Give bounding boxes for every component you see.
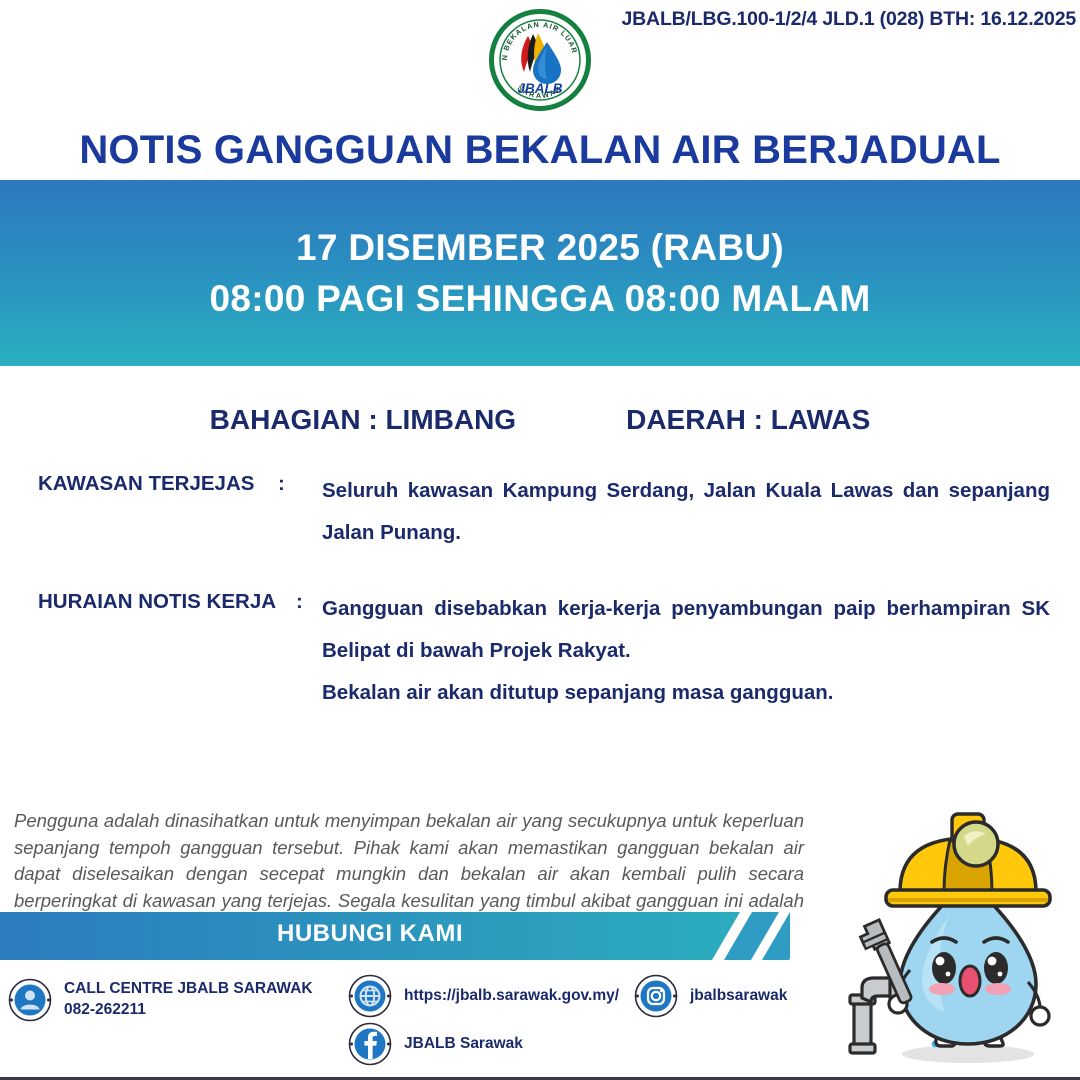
person-icon xyxy=(8,978,52,1022)
affected-area-label: KAWASAN TERJEJAS xyxy=(38,470,278,496)
affected-area-colon: : xyxy=(278,470,322,496)
work-description-row: HURAIAN NOTIS KERJA : Gangguan disebabka… xyxy=(38,588,1050,714)
work-description-line-2: Belipat di bawah Projek Rakyat. xyxy=(322,630,1050,672)
contact-call-centre[interactable]: CALL CENTRE JBALB SARAWAK 082-262211 xyxy=(8,978,313,1022)
water-droplet-mascot xyxy=(832,792,1080,1076)
date-time-banner: 17 DISEMBER 2025 (RABU) 08:00 PAGI SEHIN… xyxy=(0,180,1080,366)
work-description-colon: : xyxy=(296,588,322,614)
outage-date: 17 DISEMBER 2025 (RABU) xyxy=(296,222,784,273)
affected-area-text: Seluruh kawasan Kampung Serdang, Jalan K… xyxy=(322,470,1050,554)
work-description-label: HURAIAN NOTIS KERJA xyxy=(38,588,296,614)
instagram-icon xyxy=(634,974,678,1018)
bahagian-label: BAHAGIAN : LIMBANG xyxy=(210,404,516,436)
division-row: BAHAGIAN : LIMBANG DAERAH : LAWAS xyxy=(0,404,1080,436)
work-description-text: Gangguan disebabkan kerja-kerja penyambu… xyxy=(322,588,1050,714)
facebook-label: JBALB Sarawak xyxy=(404,1034,523,1055)
daerah-label: DAERAH : LAWAS xyxy=(626,404,870,436)
affected-area-line-2: Jalan Punang. xyxy=(322,512,1050,554)
globe-icon xyxy=(348,974,392,1018)
work-description-line-3: Bekalan air akan ditutup sepanjang masa … xyxy=(322,672,1050,714)
work-description-line-1: Gangguan disebabkan kerja-kerja penyambu… xyxy=(322,588,1050,630)
reference-number: JBALB/LBG.100-1/2/4 JLD.1 (028) BTH: 16.… xyxy=(622,8,1076,31)
svg-text:JBALB: JBALB xyxy=(517,81,562,96)
page-title: NOTIS GANGGUAN BEKALAN AIR BERJADUAL xyxy=(0,128,1080,173)
instagram-label: jbalbsarawak xyxy=(690,986,787,1007)
affected-area-line-1: Seluruh kawasan Kampung Serdang, Jalan K… xyxy=(322,470,1050,512)
website-label: https://jbalb.sarawak.gov.my/ xyxy=(404,986,619,1007)
call-centre-text: CALL CENTRE JBALB SARAWAK 082-262211 xyxy=(64,979,313,1021)
facebook-icon xyxy=(348,1022,392,1066)
contact-website[interactable]: https://jbalb.sarawak.gov.my/ xyxy=(348,974,619,1018)
contact-banner-label: HUBUNGI KAMI xyxy=(0,920,740,948)
outage-time: 08:00 PAGI SEHINGGA 08:00 MALAM xyxy=(209,273,870,324)
notice-poster: JBALB/LBG.100-1/2/4 JLD.1 (028) BTH: 16.… xyxy=(0,0,1080,1080)
affected-area-row: KAWASAN TERJEJAS : Seluruh kawasan Kampu… xyxy=(38,470,1050,554)
jbalb-logo-icon: JABATAN BEKALAN AIR LUAR BANDAR SARAWAK … xyxy=(488,8,592,112)
call-centre-name: CALL CENTRE JBALB SARAWAK xyxy=(64,979,313,1000)
contact-facebook[interactable]: JBALB Sarawak xyxy=(348,1022,523,1066)
contact-instagram[interactable]: jbalbsarawak xyxy=(634,974,787,1018)
call-centre-phone: 082-262211 xyxy=(64,1000,313,1021)
